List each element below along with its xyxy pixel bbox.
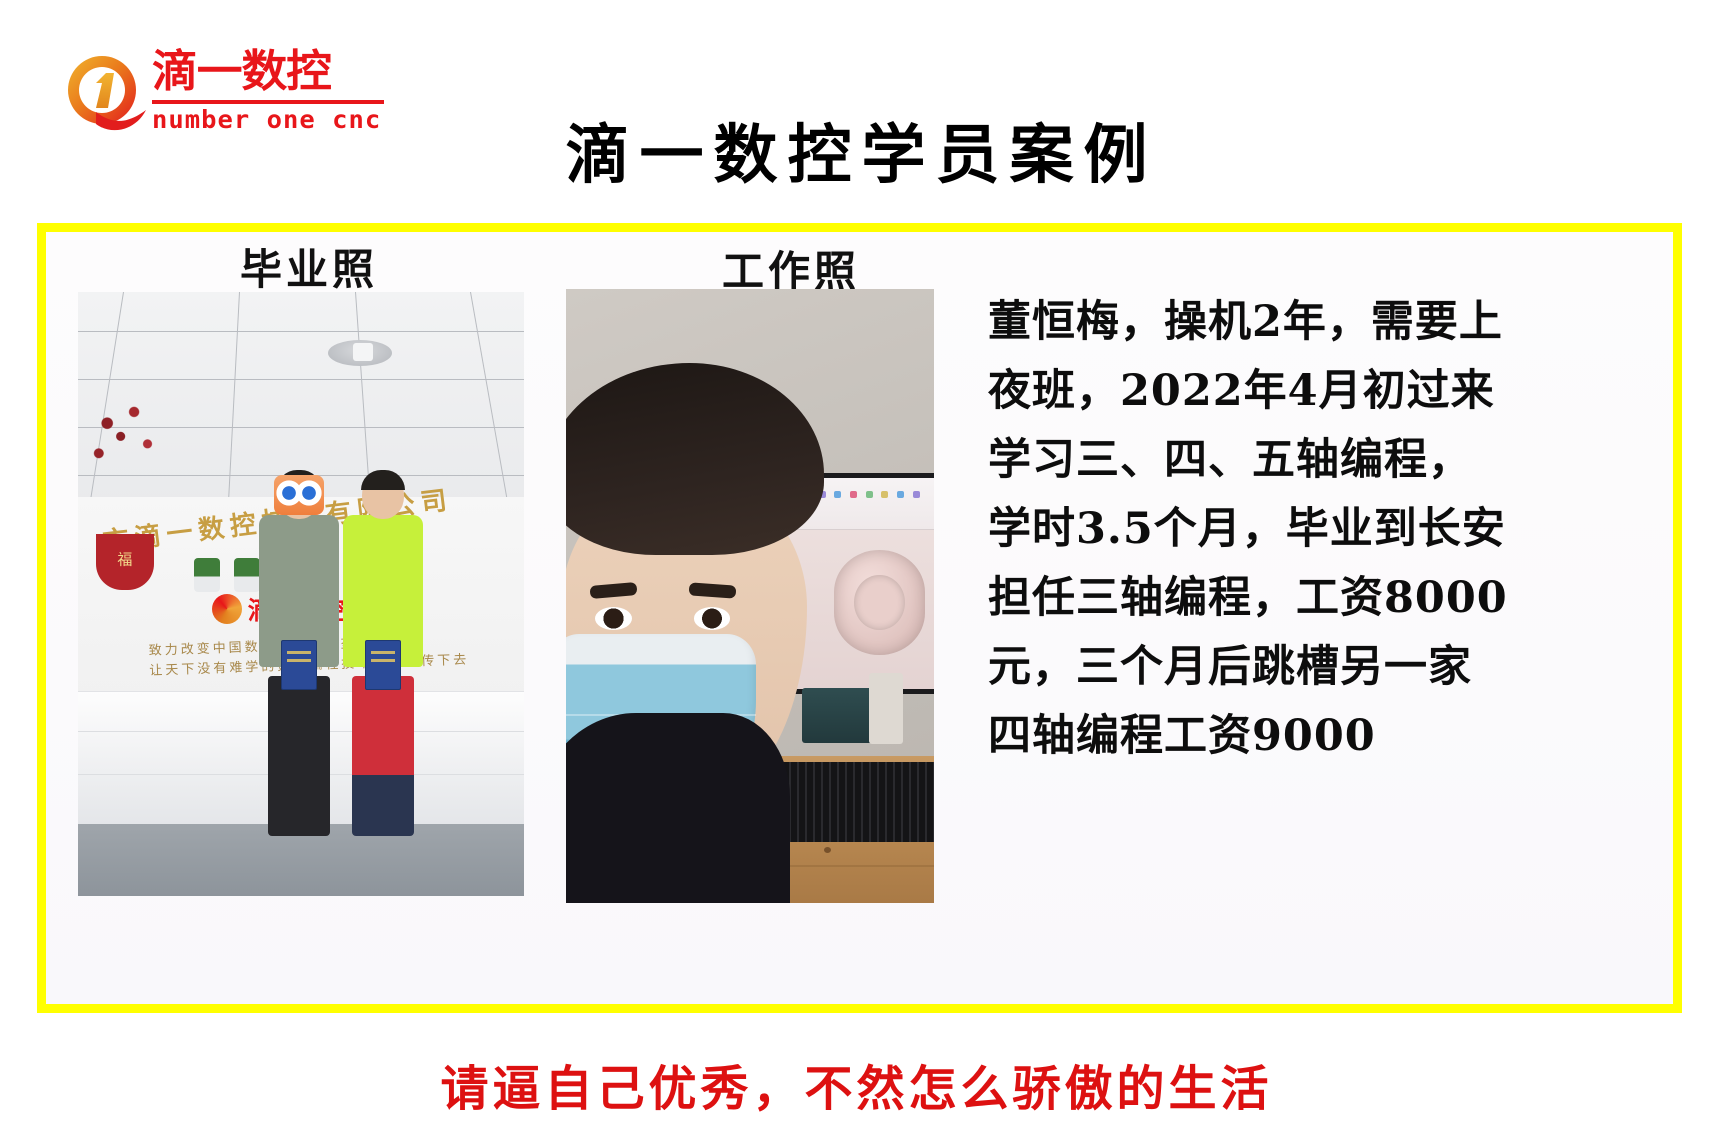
story-line: 学习三、四、五轴编程， bbox=[988, 426, 1682, 495]
cat-sticker-face-icon bbox=[274, 475, 324, 515]
black-tshirt bbox=[566, 713, 790, 903]
eyebrow-left bbox=[590, 582, 638, 599]
student-portrait bbox=[566, 363, 824, 903]
story-line: 学时3.5个月，毕业到长安 bbox=[988, 495, 1682, 564]
story-line: 担任三轴编程，工资8000 bbox=[988, 564, 1682, 633]
page-title: 滴一数控学员案例 bbox=[0, 104, 1713, 196]
work-photo bbox=[566, 289, 934, 903]
eye-left bbox=[595, 607, 632, 630]
ceiling-light-icon bbox=[328, 340, 392, 366]
eye-right bbox=[694, 607, 731, 630]
certificate-right bbox=[365, 640, 401, 690]
story-line: 董恒梅，操机2年，需要上 bbox=[988, 288, 1682, 357]
graduation-photo: 市滴一数控技术有限公司 滴一数控 致力改变中国数控行业技术垄断现象 让天下没有难… bbox=[78, 292, 524, 896]
red-vase bbox=[96, 534, 154, 590]
slide-root: 滴一数控 number one cnc 滴一数控学员案例 毕业照 工作照 市滴一… bbox=[0, 0, 1713, 1132]
potted-plant-1 bbox=[194, 558, 220, 592]
wall-logo-circle-icon bbox=[212, 594, 242, 624]
certificate-left bbox=[281, 640, 317, 690]
brand-name-cn: 滴一数控 bbox=[152, 46, 397, 98]
cad-3d-part-model bbox=[834, 550, 924, 656]
story-line: 四轴编程工资9000 bbox=[988, 702, 1682, 771]
student-story-text: 董恒梅，操机2年，需要上 夜班，2022年4月初过来 学习三、四、五轴编程， 学… bbox=[988, 288, 1682, 771]
hair bbox=[566, 363, 824, 555]
story-line: 夜班，2022年4月初过来 bbox=[988, 357, 1682, 426]
decorative-flower-arrangement bbox=[82, 395, 166, 489]
story-line: 元，三个月后跳槽另一家 bbox=[988, 633, 1682, 702]
eyebrow-right bbox=[688, 582, 736, 598]
graduate-person-left bbox=[256, 473, 342, 835]
graduation-photo-label: 毕业照 bbox=[240, 236, 378, 297]
graduate-person-right bbox=[337, 473, 429, 835]
motivational-slogan: 请逼自己优秀，不然怎么骄傲的生活 bbox=[0, 1049, 1713, 1119]
